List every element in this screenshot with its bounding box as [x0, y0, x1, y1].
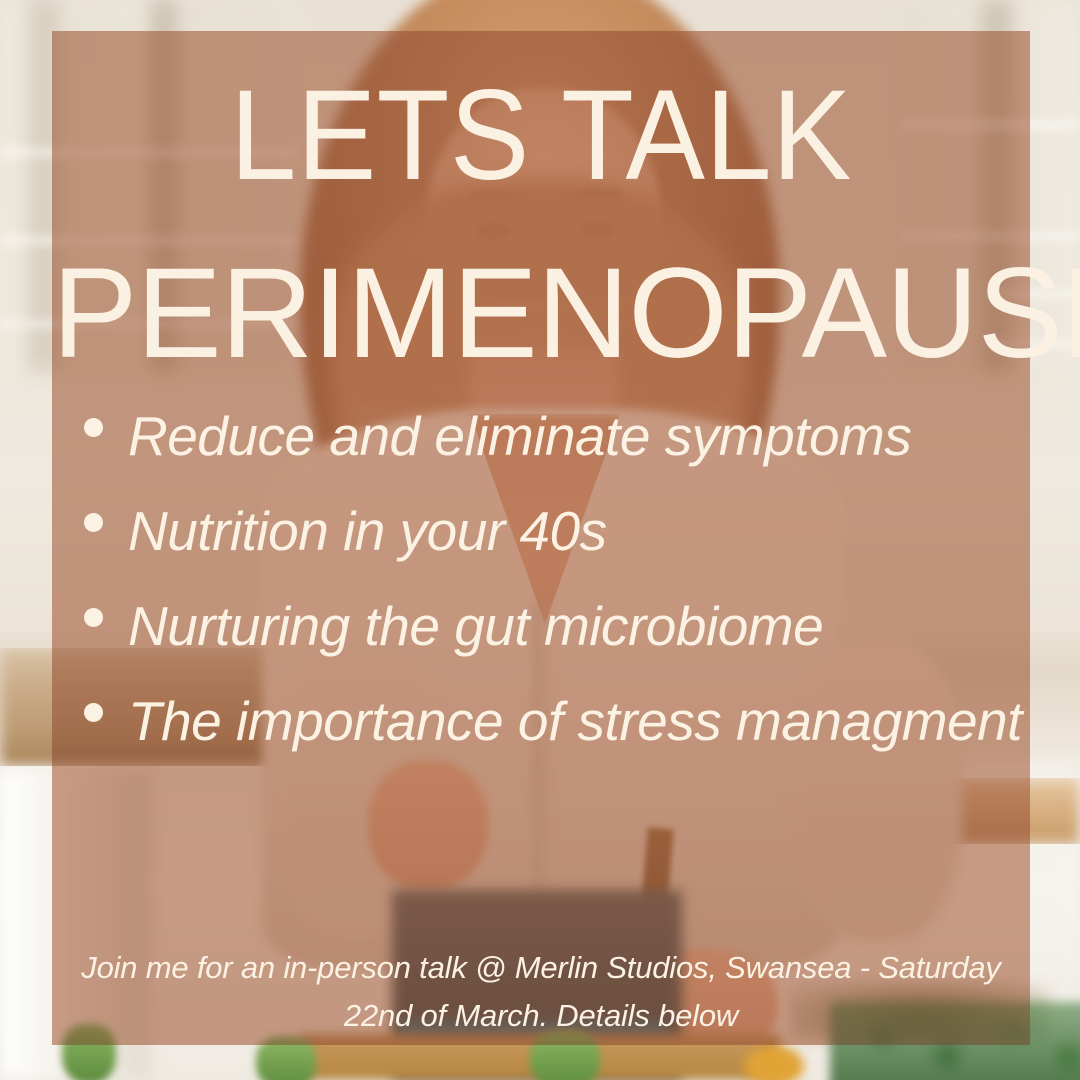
list-item: Nurturing the gut microbiome [84, 582, 1024, 671]
bullet-dot-icon [84, 513, 103, 532]
list-item: The importance of stress managment [84, 677, 1024, 766]
text-layer: LETS TALK PERIMENOPAUSE Reduce and elimi… [0, 0, 1080, 1080]
caption-line-1: Join me for an in-person talk @ Merlin S… [60, 944, 1022, 992]
bullet-text: Reduce and eliminate symptoms [128, 392, 911, 481]
headline-line-2: PERIMENOPAUSE [52, 250, 1030, 378]
bullet-list: Reduce and eliminate symptoms Nutrition … [84, 392, 1024, 772]
event-caption: Join me for an in-person talk @ Merlin S… [60, 944, 1022, 1040]
list-item: Reduce and eliminate symptoms [84, 392, 1024, 481]
social-post-canvas: LETS TALK PERIMENOPAUSE Reduce and elimi… [0, 0, 1080, 1080]
headline-line-1: LETS TALK [86, 72, 996, 200]
bullet-text: The importance of stress managment [128, 677, 1022, 766]
list-item: Nutrition in your 40s [84, 487, 1024, 576]
bullet-dot-icon [84, 703, 103, 722]
bullet-dot-icon [84, 418, 103, 437]
bullet-text: Nutrition in your 40s [128, 487, 607, 576]
bullet-text: Nurturing the gut microbiome [128, 582, 823, 671]
bullet-dot-icon [84, 608, 103, 627]
caption-line-2: 22nd of March. Details below [60, 992, 1022, 1040]
